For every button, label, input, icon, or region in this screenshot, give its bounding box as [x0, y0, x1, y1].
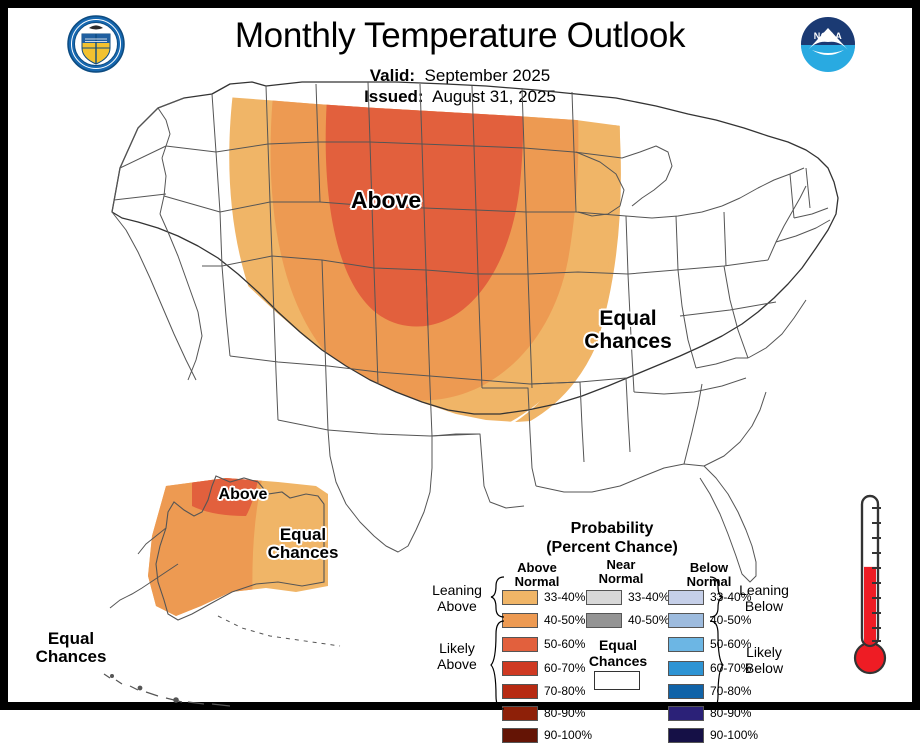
brace-likely-below-icon — [708, 620, 724, 710]
probability-legend: Probability (Percent Chance) Above Norma… — [426, 520, 798, 712]
conus-probability-bands — [229, 84, 621, 447]
map-label-hawaii-equal-chances: Equal Chances — [16, 630, 126, 667]
legend-equal-chances-2: Chances — [572, 653, 664, 669]
above-normal-swatch-90-100 — [502, 728, 538, 743]
legend-head-above-1: Above — [494, 561, 580, 575]
below-normal-swatch-40-50 — [668, 613, 704, 628]
map-label-ak-equal: Equal — [248, 526, 358, 544]
below-normal-swatch-33-40 — [668, 590, 704, 605]
legend-head-near-2: Normal — [578, 572, 664, 586]
map-label-ak-chances: Chances — [248, 544, 358, 562]
near-normal-swatch-40-50 — [586, 613, 622, 628]
brace-leaning-below-icon — [708, 576, 724, 618]
above-normal-swatch-80-90 — [502, 706, 538, 721]
legend-likely-below-2: Below — [726, 660, 802, 676]
map-label-alaska-equal-chances: Equal Chances — [248, 526, 358, 563]
below-normal-swatch-60-70 — [668, 661, 704, 676]
above-normal-label-90-100: 90-100% — [544, 728, 592, 743]
legend-leaning-above-label: Leaning Above — [420, 582, 494, 614]
legend-leaning-below-label: Leaning Below — [726, 582, 802, 614]
above-normal-label-40-50: 40-50% — [544, 613, 585, 628]
below-normal-swatch-70-80 — [668, 684, 704, 699]
legend-head-below-1: Below — [666, 561, 752, 575]
brace-likely-above-icon — [490, 620, 506, 710]
near-normal-swatch-33-40 — [586, 590, 622, 605]
map-label-hi-chances: Chances — [16, 648, 126, 666]
above-normal-swatch-60-70 — [502, 661, 538, 676]
map-label-east-chances: Chances — [548, 331, 708, 354]
legend-leaning-above-1: Leaning — [420, 582, 494, 598]
above-normal-swatch-40-50 — [502, 613, 538, 628]
legend-equal-chances-label: Equal Chances — [572, 637, 664, 669]
legend-column-header-near-normal: Near Normal — [578, 558, 664, 586]
above-normal-swatch-70-80 — [502, 684, 538, 699]
below-normal-swatch-50-60 — [668, 637, 704, 652]
map-label-east-equal-chances: Equal Chances — [548, 308, 708, 353]
near-normal-label-33-40: 33-40% — [628, 590, 669, 605]
legend-equal-chances-swatch — [594, 671, 640, 690]
legend-leaning-above-2: Above — [420, 598, 494, 614]
legend-title-line2: (Percent Chance) — [426, 539, 798, 557]
below-normal-swatch-90-100 — [668, 728, 704, 743]
brace-leaning-above-icon — [490, 576, 506, 618]
thermometer-graphic — [846, 492, 894, 682]
legend-likely-above-label: Likely Above — [420, 640, 494, 672]
below-normal-label-90-100: 90-100% — [710, 728, 758, 743]
map-label-east-equal: Equal — [548, 308, 708, 331]
above-normal-label-33-40: 33-40% — [544, 590, 585, 605]
legend-column-header-above-normal: Above Normal — [494, 561, 580, 589]
map-label-conus-above: Above — [326, 188, 446, 213]
legend-likely-below-1: Likely — [726, 644, 802, 660]
above-normal-swatch-50-60 — [502, 637, 538, 652]
map-label-alaska-above: Above — [198, 486, 288, 503]
outlook-page: NOAA Monthly Temperature Outlook Valid: … — [0, 0, 920, 710]
above-normal-swatch-33-40 — [502, 590, 538, 605]
legend-leaning-below-1: Leaning — [726, 582, 802, 598]
legend-likely-above-2: Above — [420, 656, 494, 672]
legend-leaning-below-2: Below — [726, 598, 802, 614]
legend-head-near-1: Near — [578, 558, 664, 572]
legend-title-line1: Probability — [426, 520, 798, 538]
above-normal-label-80-90: 80-90% — [544, 706, 585, 721]
legend-likely-above-1: Likely — [420, 640, 494, 656]
near-normal-label-40-50: 40-50% — [628, 613, 669, 628]
legend-likely-below-label: Likely Below — [726, 644, 802, 676]
alaska-aleutians — [218, 616, 340, 646]
legend-head-above-2: Normal — [494, 575, 580, 589]
hawaii-region — [104, 674, 230, 706]
above-normal-label-70-80: 70-80% — [544, 684, 585, 699]
legend-equal-chances-1: Equal — [572, 637, 664, 653]
map-label-hi-equal: Equal — [16, 630, 126, 648]
below-normal-swatch-80-90 — [668, 706, 704, 721]
